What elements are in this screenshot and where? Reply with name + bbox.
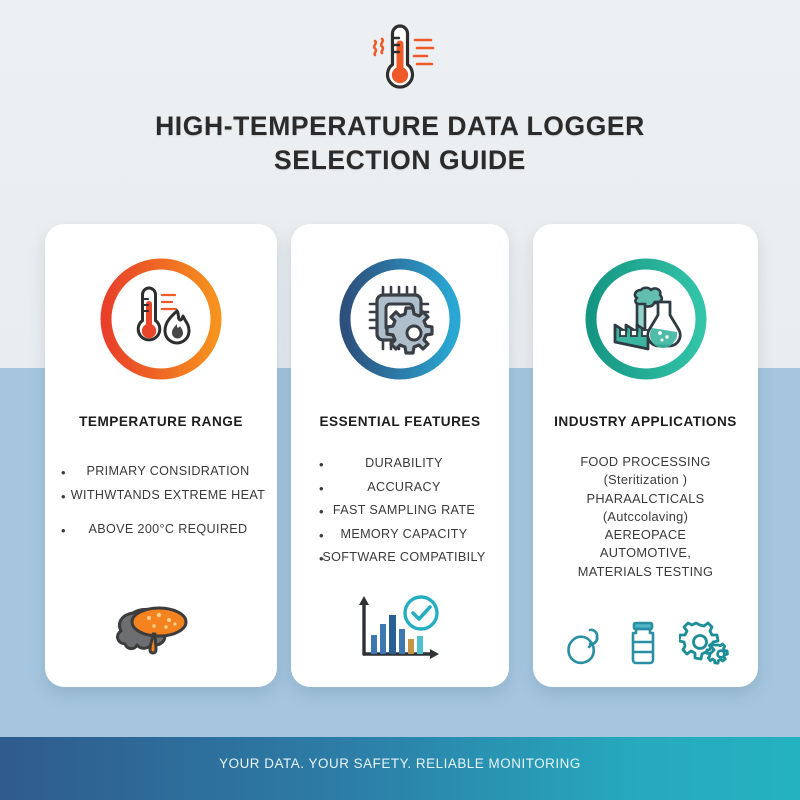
card-essential-features[interactable]: ESSENTIAL FEATURES • DURABILITY • ACCURA… <box>291 224 509 687</box>
title-line-2: SELECTION GUIDE <box>0 144 800 178</box>
list-item-label: FAST SAMPLING RATE <box>333 503 475 517</box>
bullet-dot-icon: • <box>319 505 324 518</box>
bullet-dot-icon: • <box>319 482 324 495</box>
list-item: • ABOVE 200°C REQUIRED <box>45 523 277 536</box>
list-item-label: WITHWTANDS EXTREME HEAT <box>71 488 265 502</box>
list-item: MATERIALS TESTING <box>533 563 758 581</box>
title-line-1: HIGH-TEMPERATURE DATA LOGGER <box>0 110 800 144</box>
ring-temperature-range <box>96 254 226 384</box>
list-item-label: DURABILITY <box>365 456 443 470</box>
microchip-gear-icon <box>335 254 465 384</box>
list-item: • FAST SAMPLING RATE <box>291 504 509 517</box>
thermometer-heat-icon <box>355 18 445 96</box>
vial-bottle-icon <box>623 619 663 667</box>
bullet-list-temperature-range: • PRIMARY CONSIDRATION • WITHWTANDS EXTR… <box>45 465 277 536</box>
list-item-label: PRIMARY CONSIDRATION <box>86 464 249 478</box>
list-item-label: ABOVE 200°C REQUIRED <box>88 522 247 536</box>
bottom-icons-industry-applications <box>533 619 758 667</box>
footer-tagline: YOUR DATA. YOUR SAFETY. RELIABLE MONITOR… <box>0 756 800 771</box>
card-title-temperature-range: TEMPERATURE RANGE <box>45 414 277 429</box>
molten-lava-pool-icon <box>113 595 209 667</box>
card-industry-applications[interactable]: INDUSTRY APPLICATIONS FOOD PROCESSING (S… <box>533 224 758 687</box>
text-list-industry-applications: FOOD PROCESSING (Steritization ) PHARAAL… <box>533 453 758 581</box>
list-item: • WITHWTANDS EXTREME HEAT <box>45 489 277 502</box>
list-item: AUTOMOTIVE, <box>533 544 758 562</box>
chicken-drumstick-icon <box>561 621 607 667</box>
list-item: • PRIMARY CONSIDRATION <box>45 465 277 478</box>
page-title: HIGH-TEMPERATURE DATA LOGGER SELECTION G… <box>0 110 800 178</box>
bullet-dot-icon: • <box>319 529 324 542</box>
bottom-icon-essential-features <box>291 591 509 667</box>
factory-flask-icon <box>581 254 711 384</box>
bullet-dot-icon: • <box>319 458 324 471</box>
list-item: • ACCURACY <box>291 481 509 494</box>
thermometer-flame-icon <box>96 254 226 384</box>
list-item-label: ACCURACY <box>367 480 440 494</box>
ring-essential-features <box>335 254 465 384</box>
list-item: • SOFTWARE COMPATIBILY <box>291 551 509 564</box>
list-item: AEREOPACE <box>533 526 758 544</box>
bullet-dot-icon: • <box>61 466 66 479</box>
list-item: • DURABILITY <box>291 457 509 470</box>
card-title-essential-features: ESSENTIAL FEATURES <box>291 414 509 429</box>
list-item: • MEMORY CAPACITY <box>291 528 509 541</box>
header: HIGH-TEMPERATURE DATA LOGGER SELECTION G… <box>0 0 800 178</box>
bullet-list-essential-features: • DURABILITY • ACCURACY • FAST SAMPLING … <box>291 457 509 564</box>
bar-chart-check-icon <box>350 591 450 667</box>
list-item: (Steritization ) <box>533 471 758 489</box>
card-title-industry-applications: INDUSTRY APPLICATIONS <box>533 414 758 429</box>
bullet-dot-icon: • <box>61 524 66 537</box>
card-temperature-range[interactable]: TEMPERATURE RANGE • PRIMARY CONSIDRATION… <box>45 224 277 687</box>
ring-industry-applications <box>581 254 711 384</box>
bullet-dot-icon: • <box>319 552 324 565</box>
gears-icon <box>679 619 731 667</box>
list-item-label: MEMORY CAPACITY <box>340 527 467 541</box>
bullet-dot-icon: • <box>61 490 66 503</box>
list-item-label: SOFTWARE COMPATIBILY <box>322 550 485 564</box>
list-item: FOOD PROCESSING <box>533 453 758 471</box>
list-item: (Autccolaving) <box>533 508 758 526</box>
list-item: PHARAALCTICALS <box>533 490 758 508</box>
bottom-icon-temperature-range <box>45 595 277 667</box>
